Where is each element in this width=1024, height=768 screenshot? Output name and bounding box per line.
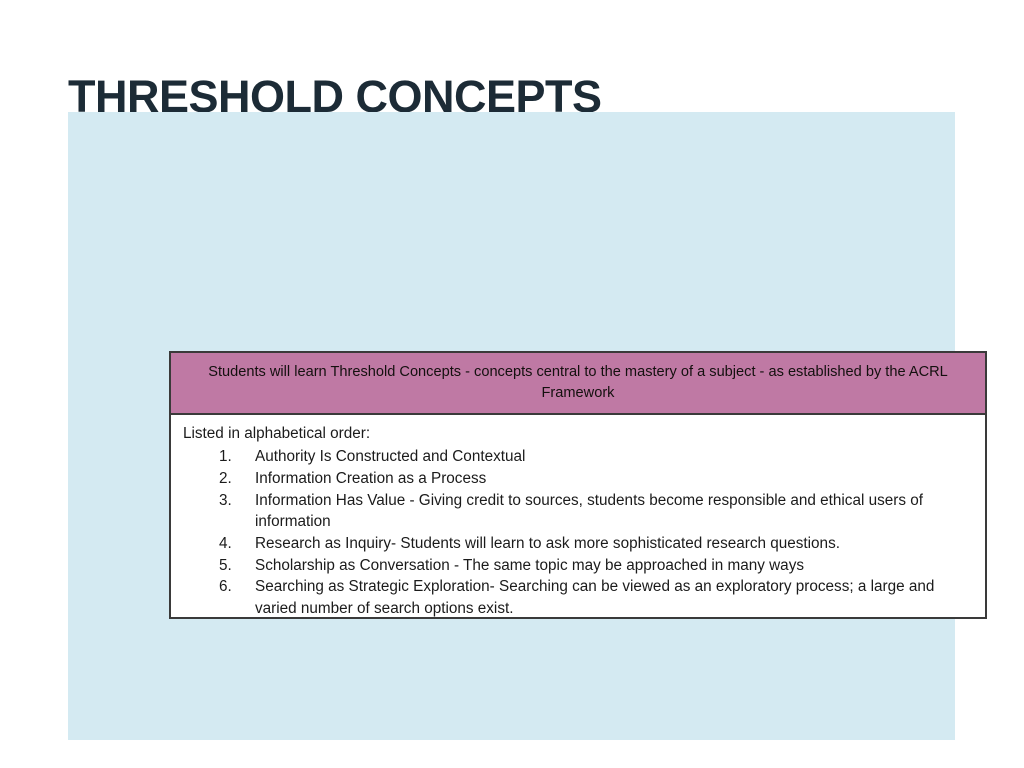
- list-item: 3.Information Has Value - Giving credit …: [181, 490, 971, 533]
- list-item-number: 5.: [219, 555, 245, 577]
- content-panel: Students will learn Threshold Concepts -…: [68, 112, 955, 740]
- list-item-number: 2.: [219, 468, 245, 490]
- list-item: 4.Research as Inquiry- Students will lea…: [181, 533, 971, 555]
- list-item-number: 3.: [219, 490, 245, 512]
- list-item: 5.Scholarship as Conversation - The same…: [181, 555, 971, 577]
- list-item-number: 1.: [219, 446, 245, 468]
- list-item-label: Information Has Value - Giving credit to…: [255, 490, 971, 533]
- list-item-number: 4.: [219, 533, 245, 555]
- list-item: 2.Information Creation as a Process: [181, 468, 971, 490]
- list-item-label: Research as Inquiry- Students will learn…: [255, 533, 971, 555]
- list-item-label: Searching as Strategic Exploration- Sear…: [255, 576, 971, 619]
- list-item: 6.Searching as Strategic Exploration- Se…: [181, 576, 971, 619]
- concepts-box-header: Students will learn Threshold Concepts -…: [171, 353, 985, 415]
- list-item-label: Information Creation as a Process: [255, 468, 971, 490]
- list-item: 1.Authority Is Constructed and Contextua…: [181, 446, 971, 468]
- list-intro-label: Listed in alphabetical order:: [181, 423, 971, 445]
- slide-canvas: Threshold Concepts Students will learn T…: [0, 0, 1024, 768]
- concepts-box-body: Listed in alphabetical order: 1.Authorit…: [171, 415, 985, 629]
- list-item-number: 6.: [219, 576, 245, 598]
- threshold-concepts-box: Students will learn Threshold Concepts -…: [169, 351, 987, 619]
- list-item-label: Scholarship as Conversation - The same t…: [255, 555, 971, 577]
- list-item-label: Authority Is Constructed and Contextual: [255, 446, 971, 468]
- concepts-list: 1.Authority Is Constructed and Contextua…: [181, 446, 971, 620]
